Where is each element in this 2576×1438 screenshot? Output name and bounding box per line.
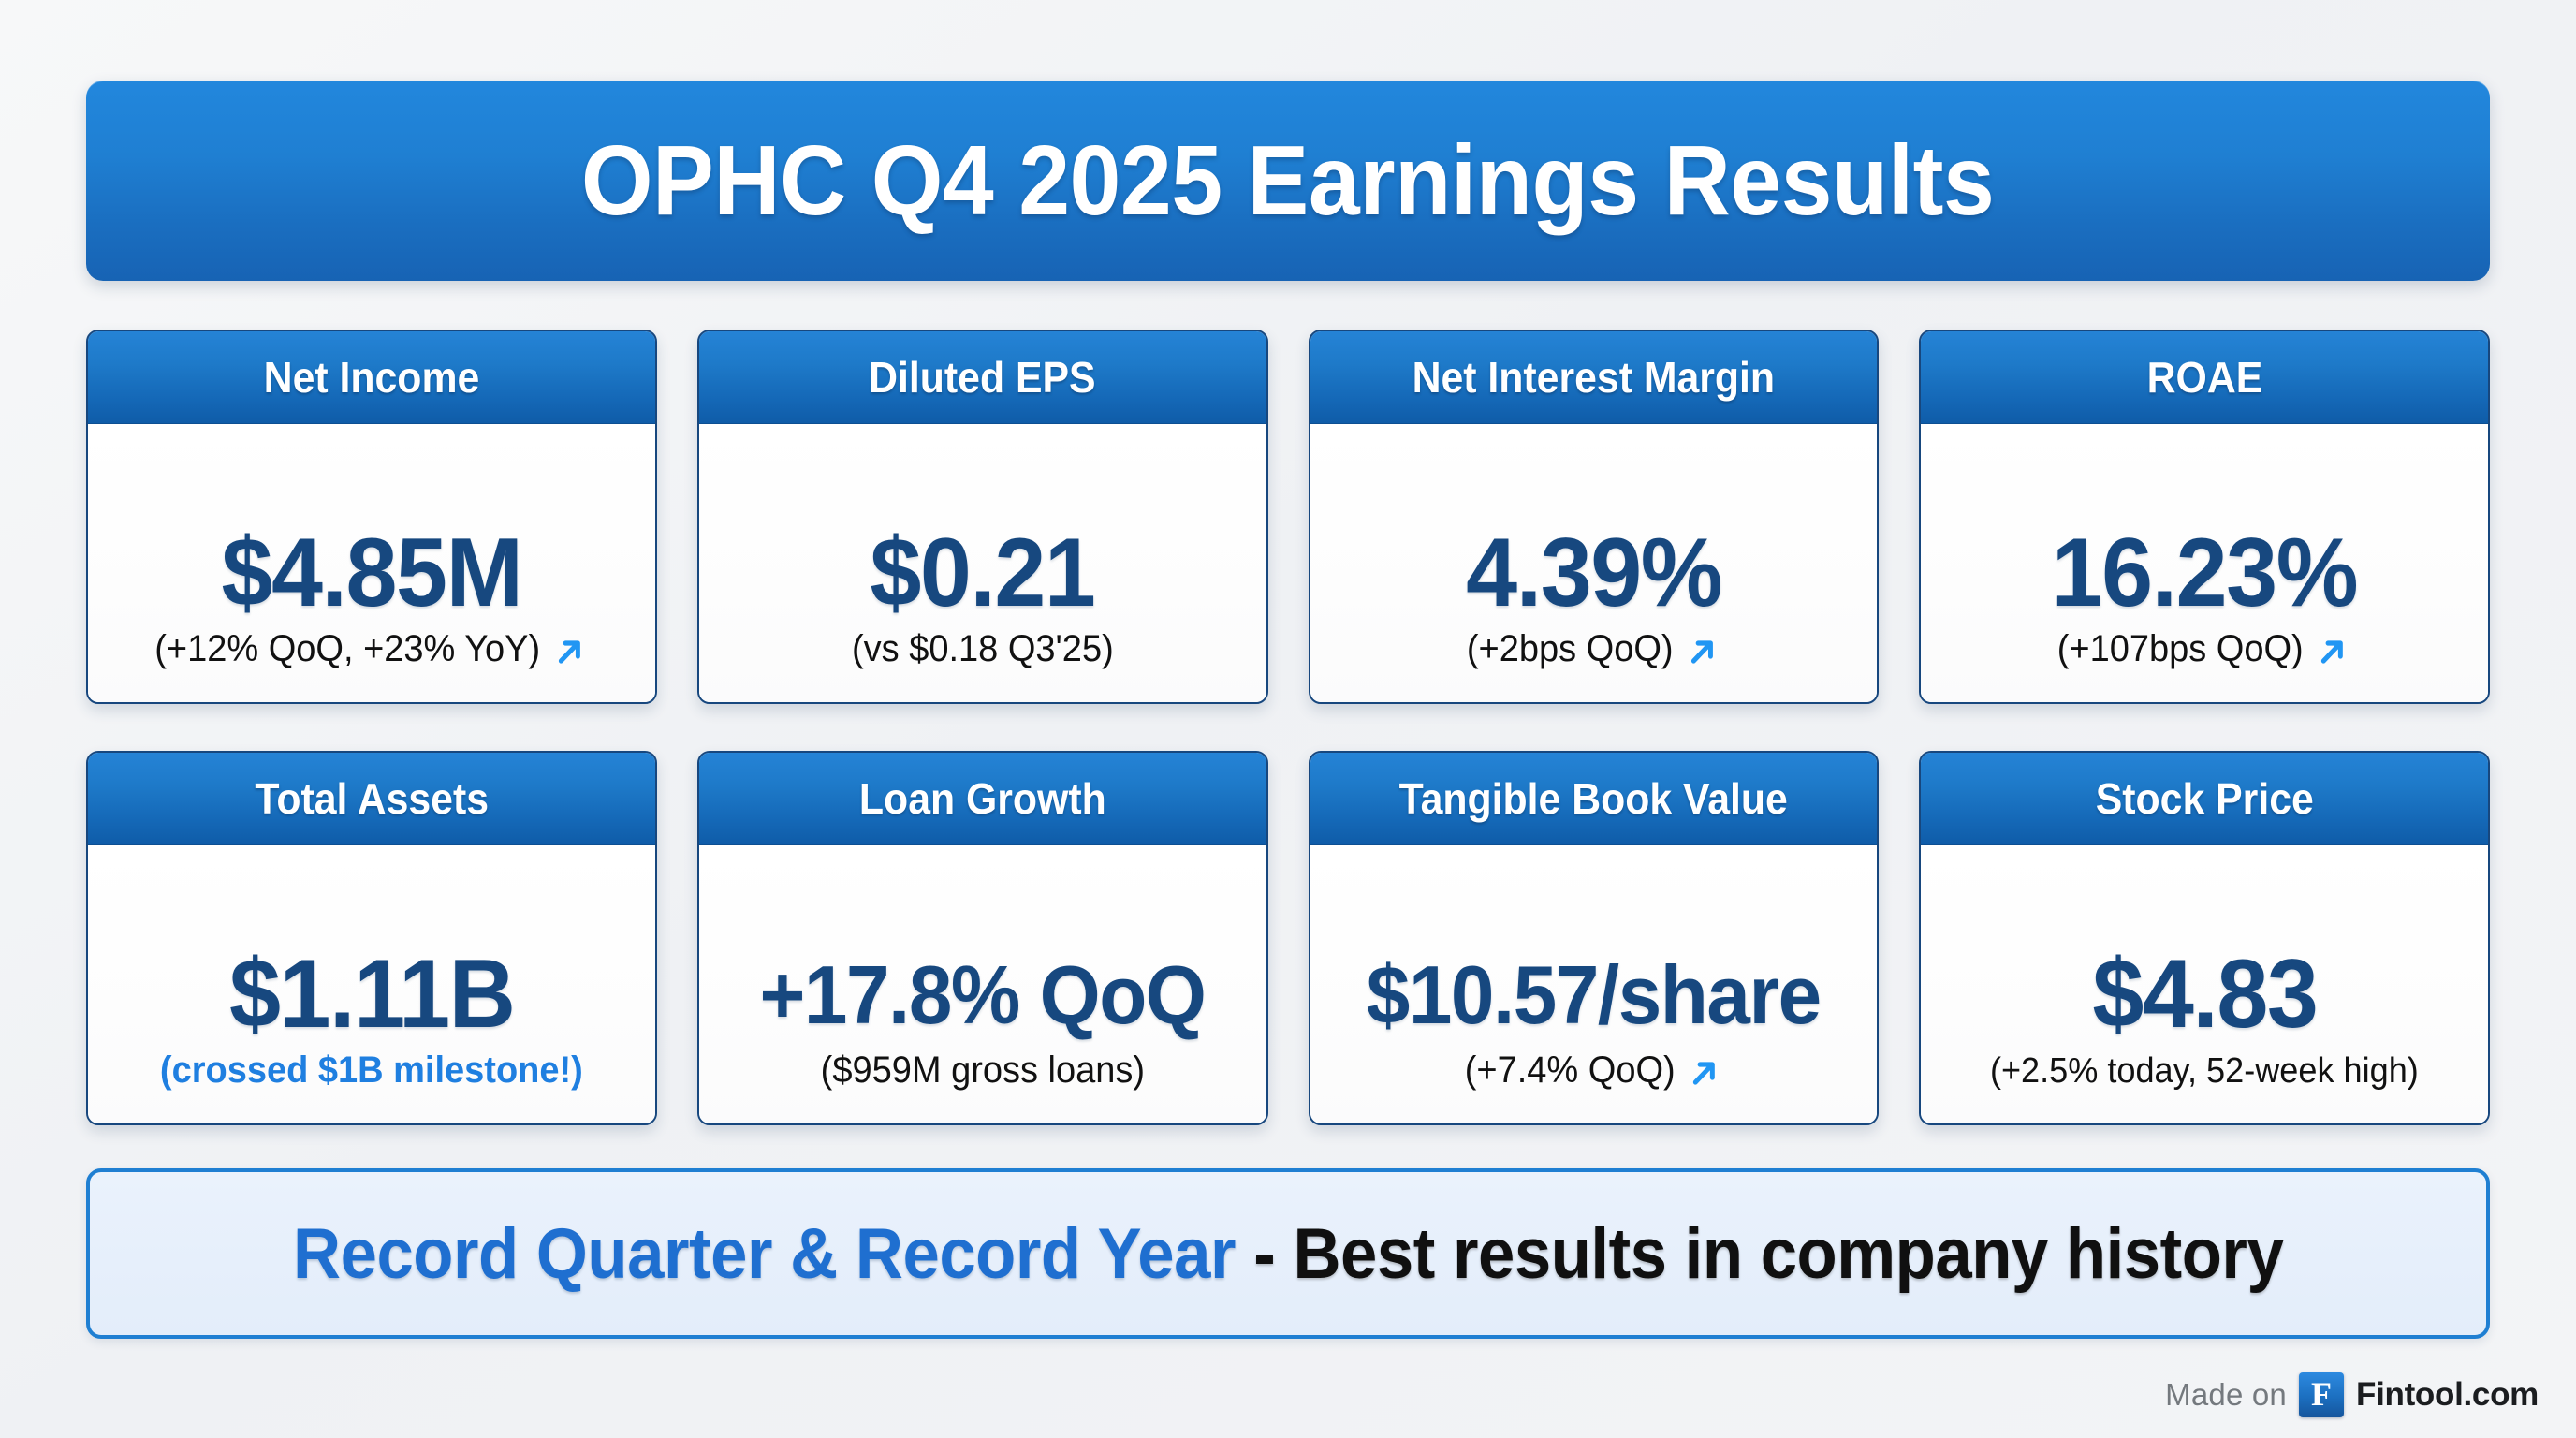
trend-up-arrow-icon — [2314, 632, 2351, 671]
metric-subtitle: ($959M gross loans) — [820, 1049, 1144, 1092]
card-body: $4.83 (+2.5% today, 52-week high) — [1921, 845, 2488, 1123]
metric-card-stock-price[interactable]: Stock Price $4.83 (+2.5% today, 52-week … — [1919, 751, 2490, 1125]
card-body: 16.23% (+107bps QoQ) — [1921, 424, 2488, 702]
trend-up-arrow-icon — [1686, 1053, 1723, 1093]
page-title: OPHC Q4 2025 Earnings Results — [581, 125, 1995, 238]
metric-label: Total Assets — [246, 773, 497, 824]
card-body: $1.11B (crossed $1B milestone!) — [88, 845, 655, 1123]
metric-subtitle-row: (+107bps QoQ) — [1935, 628, 2473, 670]
metric-subtitle-row: (+2.5% today, 52-week high) — [1935, 1051, 2473, 1092]
metric-subtitle: (crossed $1B milestone!) — [160, 1049, 583, 1092]
trend-up-arrow-icon — [551, 632, 589, 671]
metric-value: $10.57/share — [1367, 952, 1821, 1038]
highlight-banner: Record Quarter & Record Year - Best resu… — [86, 1168, 2490, 1339]
highlight-text: Record Quarter & Record Year - Best resu… — [293, 1213, 2283, 1295]
card-body: $4.85M (+12% QoQ, +23% YoY) — [88, 424, 655, 702]
card-header: Total Assets — [88, 753, 655, 845]
card-header: Loan Growth — [699, 753, 1266, 845]
fintool-brand-name: Fintool.com — [2356, 1376, 2539, 1414]
card-header: Net Income — [88, 331, 655, 424]
metric-subtitle-row: (+12% QoQ, +23% YoY) — [102, 628, 640, 670]
card-body: $10.57/share (+7.4% QoQ) — [1310, 845, 1878, 1123]
metric-card-diluted-eps[interactable]: Diluted EPS $0.21 (vs $0.18 Q3'25) — [697, 330, 1268, 704]
title-banner: OPHC Q4 2025 Earnings Results — [86, 81, 2490, 281]
metric-value: $4.85M — [221, 522, 521, 624]
metric-subtitle-row: (vs $0.18 Q3'25) — [713, 628, 1251, 670]
metric-label: Net Income — [255, 352, 488, 403]
metric-card-tangible-book-value[interactable]: Tangible Book Value $10.57/share (+7.4% … — [1309, 751, 1880, 1125]
metric-value: 16.23% — [2052, 522, 2358, 624]
metric-label: Loan Growth — [850, 773, 1114, 824]
metric-card-roae[interactable]: ROAE 16.23% (+107bps QoQ) — [1919, 330, 2490, 704]
metric-subtitle-row: ($959M gross loans) — [713, 1049, 1251, 1092]
card-header: Diluted EPS — [699, 331, 1266, 424]
made-on-label: Made on — [2165, 1377, 2287, 1413]
footer-credit[interactable]: Made on F Fintool.com — [2165, 1372, 2539, 1417]
metric-value: $4.83 — [2092, 944, 2317, 1045]
metric-card-grid: Net Income $4.85M (+12% QoQ, +23% YoY) D… — [86, 330, 2490, 1125]
card-header: ROAE — [1921, 331, 2488, 424]
card-header: Tangible Book Value — [1310, 753, 1878, 845]
highlight-rest: - Best results in company history — [1236, 1214, 2283, 1294]
card-body: 4.39% (+2bps QoQ) — [1310, 424, 1878, 702]
metric-label: Diluted EPS — [860, 352, 1105, 403]
metric-label: Tangible Book Value — [1390, 773, 1796, 824]
metric-value: 4.39% — [1466, 522, 1721, 624]
highlight-emphasis: Record Quarter & Record Year — [293, 1214, 1236, 1294]
metric-subtitle-row: (+7.4% QoQ) — [1325, 1049, 1863, 1092]
card-header: Stock Price — [1921, 753, 2488, 845]
metric-value: $0.21 — [871, 522, 1095, 624]
metric-value: +17.8% QoQ — [760, 952, 1206, 1038]
metric-subtitle: (vs $0.18 Q3'25) — [852, 628, 1114, 670]
metric-label: ROAE — [2138, 352, 2271, 403]
metric-subtitle: (+107bps QoQ) — [2057, 628, 2304, 670]
metric-card-net-income[interactable]: Net Income $4.85M (+12% QoQ, +23% YoY) — [86, 330, 657, 704]
metric-subtitle-row: (+2bps QoQ) — [1325, 628, 1863, 670]
fintool-logo-letter: F — [2311, 1377, 2332, 1411]
infographic-canvas: OPHC Q4 2025 Earnings Results Net Income… — [0, 0, 2576, 1438]
metric-subtitle: (+2bps QoQ) — [1466, 628, 1673, 670]
metric-subtitle: (+12% QoQ, +23% YoY) — [154, 628, 540, 670]
metric-card-loan-growth[interactable]: Loan Growth +17.8% QoQ ($959M gross loan… — [697, 751, 1268, 1125]
trend-up-arrow-icon — [1683, 632, 1720, 671]
card-body: +17.8% QoQ ($959M gross loans) — [699, 845, 1266, 1123]
metric-subtitle: (+7.4% QoQ) — [1464, 1049, 1675, 1092]
metric-subtitle: (+2.5% today, 52-week high) — [1990, 1051, 2419, 1092]
card-body: $0.21 (vs $0.18 Q3'25) — [699, 424, 1266, 702]
fintool-logo-icon: F — [2299, 1372, 2344, 1417]
metric-value: $1.11B — [229, 944, 515, 1045]
metric-label: Net Interest Margin — [1403, 352, 1783, 403]
metric-card-net-interest-margin[interactable]: Net Interest Margin 4.39% (+2bps QoQ) — [1309, 330, 1880, 704]
card-header: Net Interest Margin — [1310, 331, 1878, 424]
metric-subtitle-row: (crossed $1B milestone!) — [102, 1049, 640, 1092]
metric-label: Stock Price — [2086, 773, 2322, 824]
metric-card-total-assets[interactable]: Total Assets $1.11B (crossed $1B milesto… — [86, 751, 657, 1125]
